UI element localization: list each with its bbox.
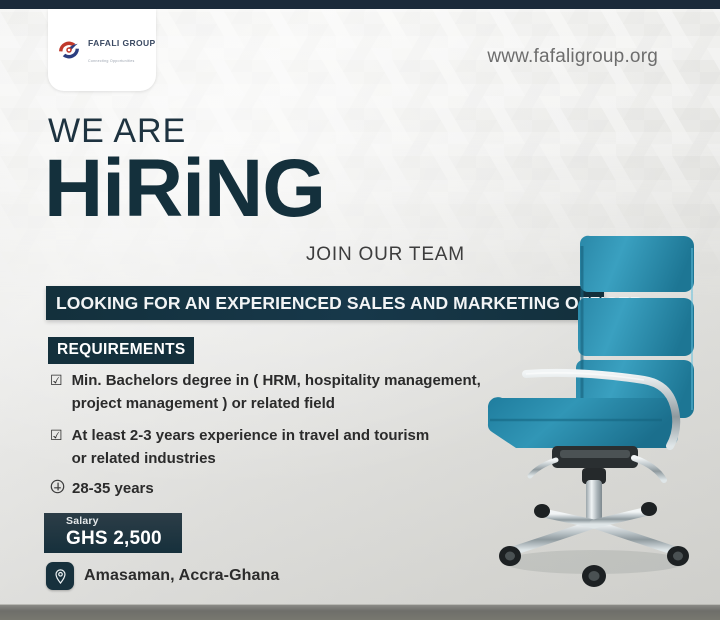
checkbox-checked-icon: ☑ — [50, 425, 63, 445]
office-chair-illustration — [444, 228, 720, 594]
age-circle-icon — [50, 479, 65, 497]
logo-tagline: Connecting Opportunities — [88, 59, 135, 63]
location-pin-icon — [46, 562, 74, 590]
website-url[interactable]: www.fafaligroup.org — [487, 46, 658, 68]
swoosh-bird-icon — [54, 35, 84, 65]
requirements-label: REQUIREMENTS — [48, 337, 194, 364]
location-text: Amasaman, Accra-Ghana — [84, 567, 279, 585]
top-accent-bar — [0, 0, 720, 9]
salary-amount: GHS 2,500 — [66, 528, 182, 550]
requirement-text: At least 2-3 years experience in travel … — [72, 425, 430, 470]
hiring-poster: FAFALI GROUP Connecting Opportunities ww… — [0, 0, 720, 620]
requirement-text: Min. Bachelors degree in ( HRM, hospital… — [72, 370, 481, 415]
requirement-line-1: Min. Bachelors degree in ( HRM, hospital… — [72, 372, 481, 389]
age-requirement-row: 28-35 years — [50, 479, 154, 497]
age-text: 28-35 years — [72, 480, 154, 497]
checkbox-checked-icon: ☑ — [50, 370, 63, 390]
logo-lockup: FAFALI GROUP Connecting Opportunities — [54, 34, 156, 66]
logo-text-block: FAFALI GROUP Connecting Opportunities — [88, 34, 156, 66]
brand-logo-card: FAFALI GROUP Connecting Opportunities — [48, 9, 156, 91]
requirements-label-text: REQUIREMENTS — [57, 341, 185, 358]
salary-label: Salary — [66, 516, 182, 528]
logo-name: FAFALI GROUP — [88, 38, 156, 48]
salary-ribbon: Salary GHS 2,500 — [44, 513, 182, 553]
headline-main: HiRiNG — [44, 148, 325, 230]
location-row: Amasaman, Accra-Ghana — [46, 562, 279, 590]
bottom-accent-bar — [0, 604, 720, 620]
requirement-line-1: At least 2-3 years experience in travel … — [72, 427, 430, 444]
requirement-line-2: or related industries — [72, 448, 430, 471]
requirement-line-2: project management ) or related field — [72, 393, 481, 416]
headline-subline: JOIN OUR TEAM — [306, 244, 465, 266]
